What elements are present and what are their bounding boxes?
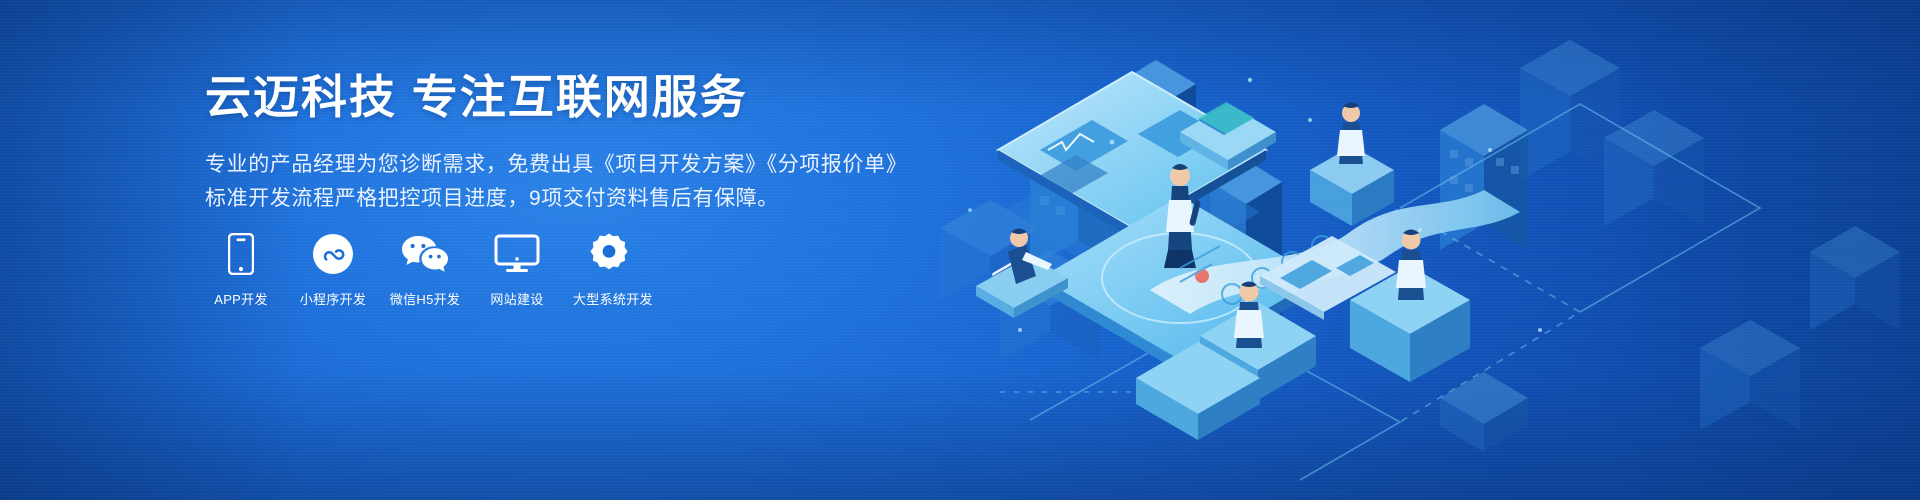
- service-label: 微信H5开发: [389, 292, 461, 308]
- service-label: 大型系统开发: [573, 292, 645, 308]
- banner-subtitle: 专业的产品经理为您诊断需求，免费出具《项目开发方案》《分项报价单》 标准开发流程…: [205, 148, 895, 216]
- promo-banner: 云迈科技 专注互联网服务 专业的产品经理为您诊断需求，免费出具《项目开发方案》《…: [0, 0, 1920, 500]
- service-item-miniprogram[interactable]: 小程序开发: [297, 232, 369, 308]
- subtitle-line-1: 专业的产品经理为您诊断需求，免费出具《项目开发方案》《分项报价单》: [205, 148, 895, 182]
- subtitle-line-2: 标准开发流程严格把控项目进度，9项交付资料售后有保障。: [205, 182, 895, 216]
- service-item-app[interactable]: APP开发: [205, 232, 277, 308]
- service-label: APP开发: [205, 292, 277, 308]
- wechat-icon: [389, 232, 461, 276]
- person-top-right: [1337, 103, 1365, 165]
- service-item-website[interactable]: 网站建设: [481, 232, 553, 308]
- service-label: 网站建设: [481, 292, 553, 308]
- mobile-phone-icon: [205, 232, 277, 276]
- page-title: 云迈科技 专注互联网服务: [205, 68, 895, 126]
- service-item-wechat[interactable]: 微信H5开发: [389, 232, 461, 308]
- monitor-icon: [481, 232, 553, 276]
- isometric-illustration: [880, 0, 1920, 500]
- banner-copy: 云迈科技 专注互联网服务 专业的产品经理为您诊断需求，免费出具《项目开发方案》《…: [205, 68, 895, 216]
- gear-icon: [573, 232, 645, 276]
- mini-program-icon: [297, 232, 369, 276]
- service-item-system[interactable]: 大型系统开发: [573, 232, 645, 308]
- service-label: 小程序开发: [297, 292, 369, 308]
- service-icon-row: APP开发 小程序开发 微信: [205, 232, 665, 308]
- right-edge-boxes: [1440, 372, 1528, 452]
